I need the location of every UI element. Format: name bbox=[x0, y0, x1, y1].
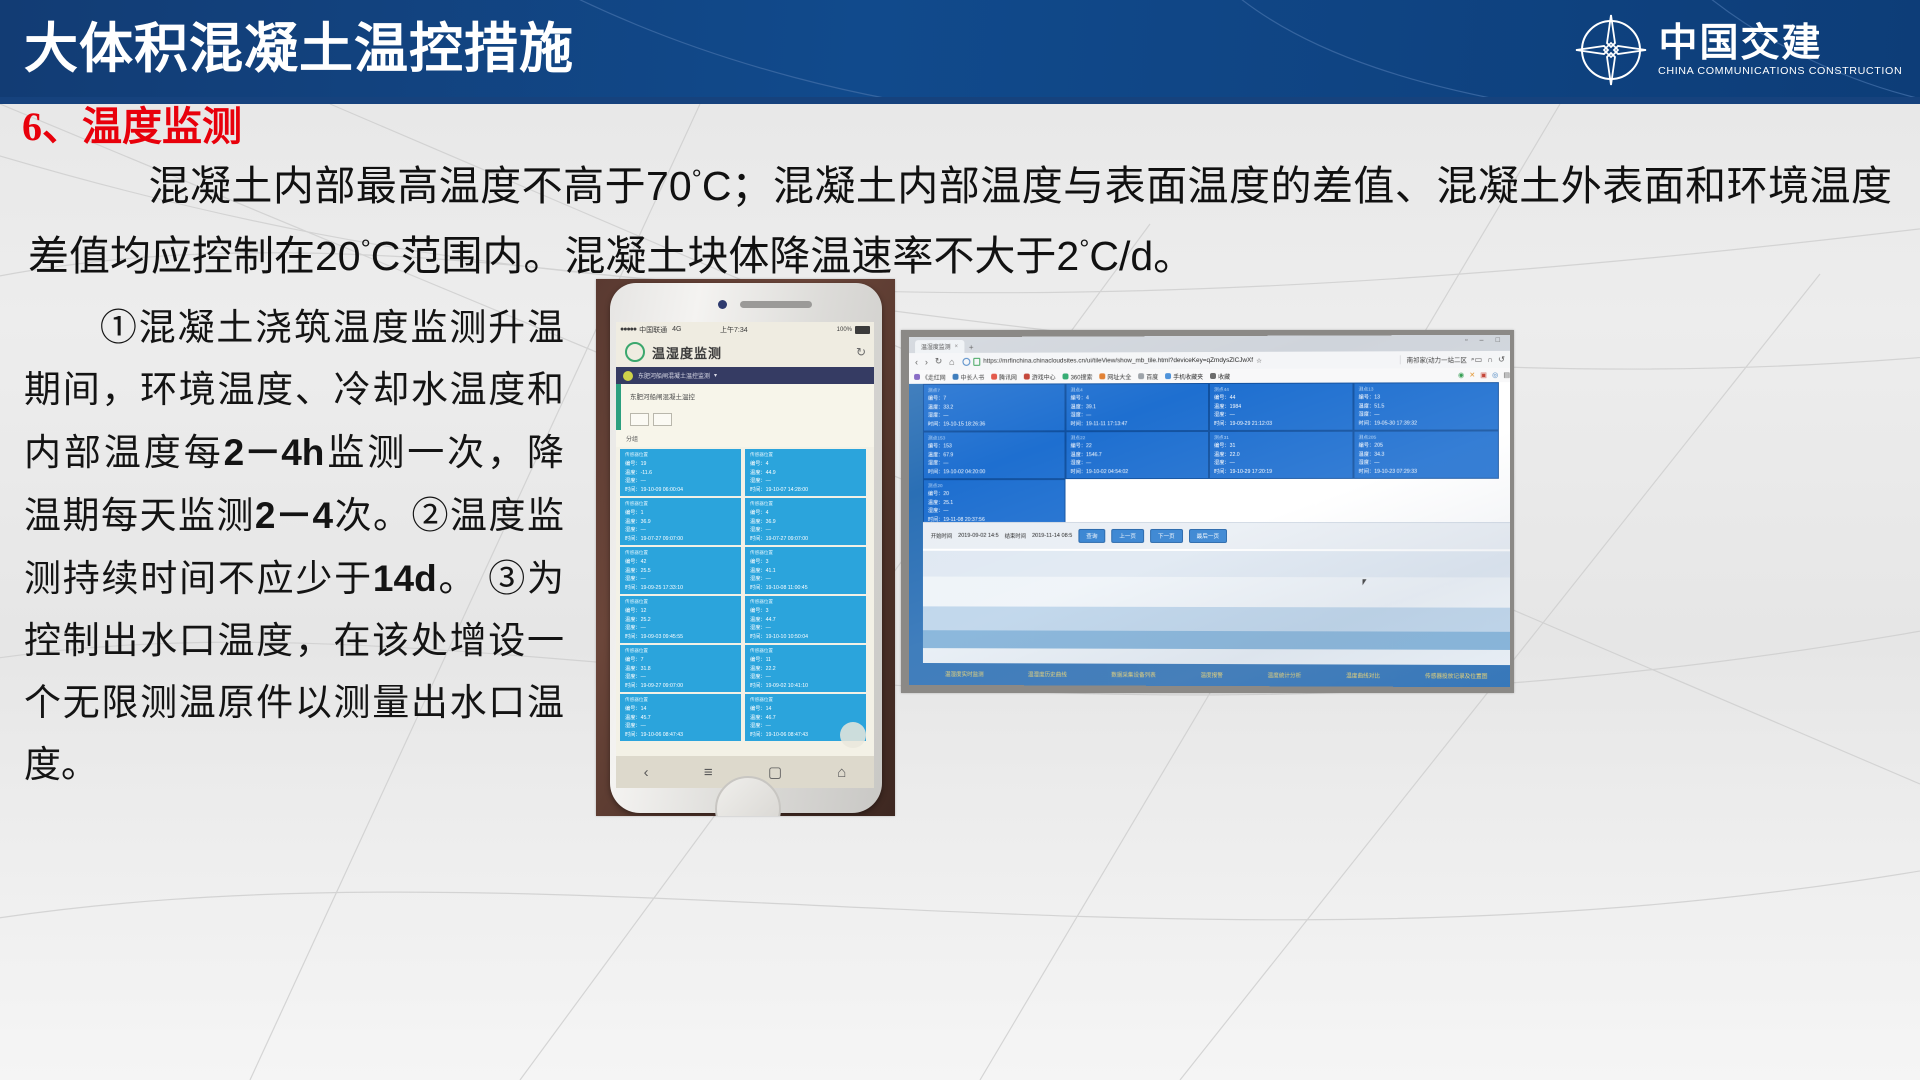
phone-breadcrumb-row: 东肥河船闸混凝土温控 bbox=[616, 384, 874, 408]
bookmark-favicon-icon bbox=[1024, 374, 1030, 380]
sensor-card-title: 传感器位置 bbox=[750, 452, 861, 458]
sensor-card-temperature: 温度：36.9 bbox=[625, 518, 736, 527]
measurement-card-id: 编号：153 bbox=[928, 442, 1061, 451]
intro-line2-c: C/d。 bbox=[1089, 233, 1194, 279]
chevron-down-icon[interactable]: ▾ bbox=[714, 372, 717, 379]
end-time-input[interactable]: 2019-11-14 08:5 bbox=[1032, 533, 1072, 539]
footer-tab[interactable]: 传感器投放记录及位置图 bbox=[1425, 672, 1487, 680]
sensor-card-id: 编号：14 bbox=[750, 705, 861, 714]
measurement-card-humidity: 湿度：— bbox=[928, 411, 1061, 420]
slide-header: 大体积混凝土温控措施 中国交建 CHINA COMMUNICATIONS CON… bbox=[0, 0, 1920, 104]
measurement-card-temperature: 温度：51.5 bbox=[1358, 402, 1493, 411]
footer-tab[interactable]: 数据采集设备列表 bbox=[1111, 671, 1156, 679]
bookmark-item[interactable]: 中长人书 bbox=[953, 372, 985, 381]
sensor-card-time: 时间：19-07-27 09:07:00 bbox=[625, 535, 736, 544]
sensor-card-humidity: 湿度：— bbox=[625, 624, 736, 633]
sensor-card-title: 传感器位置 bbox=[625, 697, 736, 703]
start-time-label: 开始时间 bbox=[931, 532, 952, 540]
measurement-card-grid: 测点7编号：7温度：33.2湿度：—时间：19-10-15 18:26:36测点… bbox=[923, 382, 1510, 527]
company-logo: 中国交建 CHINA COMMUNICATIONS CONSTRUCTION bbox=[1574, 10, 1898, 90]
sensor-card-temperature: 温度：41.1 bbox=[750, 567, 861, 576]
measurement-card[interactable]: 测点31编号：31温度：22.0湿度：—时间：19-10-29 17:20:19 bbox=[1209, 431, 1353, 479]
sensor-card-title: 传感器位置 bbox=[750, 697, 861, 703]
sensor-card-humidity: 湿度：— bbox=[625, 722, 736, 731]
intro-paragraph: 混凝土内部最高温度不高于70°C；混凝土内部温度与表面温度的差值、混凝土外表面和… bbox=[28, 148, 1892, 288]
measurement-card-humidity: 湿度：— bbox=[1214, 459, 1348, 468]
bookmark-item[interactable]: 手机收藏夹 bbox=[1165, 372, 1203, 381]
app-title: 温湿度监测 bbox=[652, 343, 722, 362]
bookmark-item[interactable]: 网址大全 bbox=[1099, 372, 1131, 381]
nav-breadcrumb-label: 东肥河船闸混凝土温控监测 bbox=[638, 371, 710, 380]
sensor-card-title: 传感器位置 bbox=[625, 599, 736, 605]
sensor-card-humidity: 湿度：— bbox=[625, 526, 736, 535]
sensor-card-humidity: 湿度：— bbox=[625, 673, 736, 682]
sensor-card-temperature: 温度：44.9 bbox=[750, 469, 861, 478]
footer-tab[interactable]: 温湿度实时监测 bbox=[945, 670, 984, 678]
monitoring-web-page: 测点7编号：7温度：33.2湿度：—时间：19-10-15 18:26:36测点… bbox=[909, 382, 1510, 687]
body-bold-duration: 14d bbox=[373, 558, 437, 599]
cross-icon[interactable]: ✕ bbox=[1469, 371, 1475, 379]
status-bar-right: 100% bbox=[837, 326, 870, 334]
last-page-button[interactable]: 最后一页 bbox=[1189, 529, 1227, 543]
measurement-card-id: 编号：44 bbox=[1214, 394, 1348, 403]
sensor-card-id: 编号：4 bbox=[750, 460, 861, 469]
phone-group-row[interactable]: 分组 bbox=[616, 430, 874, 447]
tools-icon[interactable]: ▣ bbox=[1480, 371, 1487, 379]
phone-photo: ●●●●● 中国联通 4G 上午7:34 100% 温湿度监测 ↻ 东肥河船闸混… bbox=[596, 279, 895, 816]
measurement-card-id: 编号：31 bbox=[1214, 442, 1348, 451]
degree-symbol-2: ° bbox=[361, 235, 371, 263]
measurement-card-title: 测点4 bbox=[1070, 386, 1204, 393]
body-paragraph: ①混凝土浇筑温度监测升温期间，环境温度、冷却水温度和内部温度每2－4h监测一次，… bbox=[24, 298, 564, 797]
sensor-card-temperature: 温度：-11.6 bbox=[625, 469, 736, 478]
degree-symbol-3: ° bbox=[1079, 235, 1089, 263]
measurement-card-humidity: 湿度：— bbox=[1358, 410, 1493, 419]
next-page-button[interactable]: 下一页 bbox=[1150, 529, 1183, 543]
measurement-card[interactable]: 测点20编号：20温度：25.1湿度：—时间：19-11-08 20:37:56 bbox=[923, 479, 1066, 527]
section-heading: 6、温度监测 bbox=[22, 100, 242, 154]
sensor-card-time: 时间：19-09-25 17:33:10 bbox=[625, 584, 736, 593]
sensor-card-time: 时间：19-09-02 10:41:10 bbox=[750, 682, 861, 691]
network-type-label: 4G bbox=[672, 326, 681, 333]
body-bold-interval: 2－4h bbox=[224, 432, 325, 473]
measurement-card-time: 时间：19-10-02 04:20:00 bbox=[928, 468, 1061, 477]
measurement-card-temperature: 温度：1546.7 bbox=[1070, 451, 1204, 460]
bookmark-label: 百度 bbox=[1146, 372, 1158, 381]
sensor-card-title: 传感器位置 bbox=[750, 501, 861, 507]
logo-text-block: 中国交建 CHINA COMMUNICATIONS CONSTRUCTION bbox=[1658, 23, 1898, 78]
more-icon[interactable]: ▤ bbox=[1503, 371, 1510, 379]
bookmark-item[interactable]: 腾讯网 bbox=[991, 372, 1017, 381]
browser-nav-buttons: ‹ › ↻ ⌂ bbox=[915, 356, 954, 367]
sensor-card-id: 编号：42 bbox=[625, 558, 736, 567]
bookmark-label: 《走红网 bbox=[922, 372, 946, 381]
phone-front-camera bbox=[718, 300, 727, 309]
nav-back-icon[interactable]: ‹ bbox=[644, 764, 649, 781]
measurement-card[interactable]: 测点44编号：44温度：1984湿度：—时间：19-09-29 21:12:03 bbox=[1209, 383, 1353, 431]
sensor-card-temperature: 温度：45.7 bbox=[625, 714, 736, 723]
status-bar-time: 上午7:34 bbox=[720, 325, 748, 335]
bookmark-favicon-icon bbox=[1210, 373, 1216, 379]
nav-home-icon[interactable]: ⌂ bbox=[837, 764, 846, 781]
bookmark-label: 收藏 bbox=[1218, 371, 1230, 380]
search-text: 南祁家(动力一站二区 bbox=[1407, 355, 1467, 364]
body-bold-count: 2－4 bbox=[255, 495, 333, 536]
window-controls[interactable]: ▫ – □ bbox=[1465, 337, 1505, 344]
measurement-card-title: 测点13 bbox=[1358, 385, 1493, 392]
measurement-card-title: 测点7 bbox=[928, 386, 1061, 393]
measurement-card-title: 测点205 bbox=[1358, 433, 1493, 440]
measurement-card-title: 测点153 bbox=[928, 434, 1061, 441]
intro-line2-b: C范围内。混凝土块体降温速率不大于2 bbox=[371, 233, 1079, 279]
sensor-card-temperature: 温度：25.2 bbox=[625, 616, 736, 625]
query-button[interactable]: 查询 bbox=[1078, 529, 1105, 543]
measurement-card-temperature: 温度：67.9 bbox=[928, 451, 1061, 460]
sensor-card-title: 传感器位置 bbox=[625, 501, 736, 507]
reload-icon[interactable]: ↻ bbox=[935, 356, 942, 367]
sensor-card-time: 时间：19-10-08 11:00:45 bbox=[750, 584, 861, 593]
measurement-card[interactable]: 测点4编号：4温度：39.1湿度：—时间：19-11-11 17:13:47 bbox=[1066, 383, 1209, 431]
bookmark-favicon-icon bbox=[1063, 373, 1069, 379]
sensor-card-id: 编号：1 bbox=[625, 509, 736, 518]
toolbar-button-2[interactable] bbox=[653, 413, 672, 426]
measurement-card-id: 编号：20 bbox=[928, 490, 1061, 499]
page-stripe-1 bbox=[923, 551, 1510, 578]
phone-app-bar: 温湿度监测 ↻ bbox=[616, 337, 874, 367]
measurement-card-temperature: 温度：33.2 bbox=[928, 403, 1061, 412]
measurement-card-id: 编号：7 bbox=[928, 394, 1061, 403]
sensor-card-time: 时间：19-09-27 09:07:00 bbox=[625, 682, 736, 691]
sensor-card-id: 编号：12 bbox=[625, 607, 736, 616]
signal-strength-icon: ●●●●● bbox=[620, 326, 636, 333]
measurement-card[interactable]: 测点22编号：22温度：1546.7湿度：—时间：19-10-02 04:54:… bbox=[1066, 431, 1209, 479]
shield-icon[interactable]: ◉ bbox=[1458, 371, 1464, 379]
sensor-card-id: 编号：3 bbox=[750, 558, 861, 567]
monitor-screen: 温湿度监测 × + ▫ – □ ‹ › ↻ ⌂ https://mrfinchi… bbox=[909, 335, 1510, 687]
browser-extension-icons: ◉ ✕ ▣ ◎ ▤ bbox=[1458, 371, 1510, 379]
sensor-card-title: 传感器位置 bbox=[625, 648, 736, 654]
sensor-card-time: 时间：19-09-03 09:45:55 bbox=[625, 633, 736, 642]
sensor-card-humidity: 湿度：— bbox=[750, 526, 861, 535]
sensor-card[interactable]: 传感器位置编号：3温度：41.1湿度：—时间：19-10-08 11:00:45 bbox=[745, 547, 866, 594]
measurement-card-row: 测点20编号：20温度：25.1湿度：—时间：19-11-08 20:37:56 bbox=[923, 479, 1510, 527]
floating-action-button[interactable] bbox=[840, 722, 866, 748]
measurement-card[interactable]: 测点7编号：7温度：33.2湿度：—时间：19-10-15 18:26:36 bbox=[923, 383, 1066, 431]
bookmark-favicon-icon bbox=[1138, 373, 1144, 379]
header-underline bbox=[0, 97, 1920, 104]
sensor-card-time: 时间：19-10-07 14:28:00 bbox=[750, 486, 861, 495]
phone-sensor-card-grid: 传感器位置编号：19温度：-11.6湿度：—时间：19-10-09 06:00:… bbox=[616, 447, 874, 756]
sensor-card[interactable]: 传感器位置编号：11温度：22.2湿度：—时间：19-09-02 10:41:1… bbox=[745, 645, 866, 692]
bookmark-favicon-icon bbox=[914, 374, 920, 380]
page-left-sidebar bbox=[909, 384, 923, 685]
nav-recents-icon[interactable]: ▢ bbox=[768, 763, 782, 781]
measurement-card-time: 时间：19-10-29 17:20:19 bbox=[1214, 467, 1348, 476]
globe-icon bbox=[962, 357, 970, 365]
app-logo-icon bbox=[625, 342, 645, 362]
page-stripe-4 bbox=[923, 630, 1510, 650]
bookmark-item[interactable]: 游戏中心 bbox=[1024, 372, 1056, 381]
measurement-card-time: 时间：19-05-30 17:39:32 bbox=[1358, 419, 1493, 428]
measurement-card[interactable]: 测点13编号：13温度：51.5湿度：—时间：19-05-30 17:39:32 bbox=[1353, 382, 1498, 431]
bookmark-star-icon[interactable]: ☆ bbox=[1256, 356, 1262, 364]
page-title: 大体积混凝土温控措施 bbox=[24, 16, 574, 82]
prev-page-button[interactable]: 上一页 bbox=[1111, 529, 1144, 543]
sensor-card-title: 传感器位置 bbox=[750, 648, 861, 654]
measurement-card-title: 测点44 bbox=[1214, 386, 1348, 393]
measurement-card-id: 编号：4 bbox=[1070, 394, 1204, 403]
toolbar-button-1[interactable] bbox=[630, 413, 649, 426]
intro-line1-a: 混凝土内部最高温度不高于70 bbox=[148, 163, 692, 209]
phone-status-bar: ●●●●● 中国联通 4G 上午7:34 100% bbox=[616, 322, 874, 337]
measurement-card-humidity: 湿度：— bbox=[928, 459, 1061, 468]
sensor-card[interactable]: 传感器位置编号：42温度：25.5湿度：—时间：19-09-25 17:33:1… bbox=[620, 547, 741, 594]
logo-chinese-name: 中国交建 bbox=[1658, 23, 1898, 65]
measurement-card[interactable]: 测点153编号：153温度：67.9湿度：—时间：19-10-02 04:20:… bbox=[923, 431, 1066, 479]
phone-nav-bar[interactable]: 东肥河船闸混凝土温控监测 ▾ bbox=[616, 367, 874, 384]
bookmark-item[interactable]: 收藏 bbox=[1210, 371, 1230, 380]
bookmark-label: 腾讯网 bbox=[999, 372, 1017, 381]
compass-emblem-icon bbox=[1574, 13, 1648, 87]
group-label: 分组 bbox=[626, 434, 638, 443]
carrier-label: 中国联通 bbox=[639, 325, 667, 335]
page-stripe-2 bbox=[923, 577, 1510, 608]
measurement-card-time: 时间：19-09-29 21:12:03 bbox=[1214, 419, 1348, 428]
browser-tab-active[interactable]: 温湿度监测 × bbox=[915, 340, 964, 353]
sensor-card-id: 编号：14 bbox=[625, 705, 736, 714]
measurement-card-id: 编号：205 bbox=[1358, 442, 1493, 451]
bookmark-label: 中长人书 bbox=[960, 372, 984, 381]
sensor-card-temperature: 温度：36.9 bbox=[750, 518, 861, 527]
sensor-card[interactable]: 传感器位置编号：3温度：44.7湿度：—时间：19-10-10 10:50:04 bbox=[745, 596, 866, 643]
measurement-card-temperature: 温度：34.3 bbox=[1358, 450, 1493, 459]
measurement-card-title: 测点22 bbox=[1070, 434, 1204, 441]
measurement-card-temperature: 温度：39.1 bbox=[1070, 403, 1204, 412]
measurement-card-temperature: 温度：25.1 bbox=[928, 499, 1061, 507]
sensor-card[interactable]: 传感器位置编号：12温度：25.2湿度：—时间：19-09-03 09:45:5… bbox=[620, 596, 741, 643]
screenshot-icon[interactable]: ▭ bbox=[1475, 355, 1483, 364]
url-text: https://mrfinchina.chinacloudsites.cn/ui… bbox=[983, 357, 1253, 365]
account-icon[interactable]: ◎ bbox=[1492, 371, 1498, 379]
sensor-card-humidity: 湿度：— bbox=[750, 673, 861, 682]
refresh-icon[interactable]: ↻ bbox=[856, 345, 866, 359]
sensor-card[interactable]: 传感器位置编号：1温度：36.9湿度：—时间：19-07-27 09:07:00 bbox=[620, 498, 741, 545]
footer-tab[interactable]: 温度报警 bbox=[1200, 671, 1222, 679]
sensor-card-id: 编号：7 bbox=[625, 656, 736, 665]
bookmark-label: 网址大全 bbox=[1107, 372, 1131, 381]
sensor-card-temperature: 温度：22.2 bbox=[750, 665, 861, 674]
sensor-card[interactable]: 传感器位置编号：4温度：44.9湿度：—时间：19-10-07 14:28:00 bbox=[745, 449, 866, 496]
measurement-card-temperature: 温度：22.0 bbox=[1214, 450, 1348, 459]
measurement-card-id: 编号：22 bbox=[1070, 442, 1204, 451]
bookmark-label: 360搜索 bbox=[1071, 372, 1093, 381]
phone-earpiece bbox=[740, 301, 812, 308]
bookmark-item[interactable]: 《走红网 bbox=[914, 372, 946, 381]
measurement-card-humidity: 湿度：— bbox=[1358, 459, 1493, 468]
browser-tab-title: 温湿度监测 bbox=[921, 342, 951, 351]
intro-line1-b: C；混凝土内部温度与表面温度的差值、混凝土 bbox=[702, 163, 1561, 209]
phone-screen: ●●●●● 中国联通 4G 上午7:34 100% 温湿度监测 ↻ 东肥河船闸混… bbox=[616, 322, 874, 756]
sensor-card-humidity: 湿度：— bbox=[625, 477, 736, 486]
sensor-card-id: 编号：3 bbox=[750, 607, 861, 616]
sensor-card-time: 时间：19-10-09 06:00:04 bbox=[625, 486, 736, 495]
sensor-card-humidity: 湿度：— bbox=[625, 575, 736, 584]
bookmark-favicon-icon bbox=[953, 374, 959, 380]
sensor-card-temperature: 温度：46.7 bbox=[750, 714, 861, 723]
measurement-card-time: 时间：19-10-23 07:29:33 bbox=[1358, 467, 1493, 476]
nav-menu-icon[interactable]: ≡ bbox=[704, 764, 713, 781]
home-icon[interactable]: ⌂ bbox=[949, 356, 954, 366]
page-stripe-3 bbox=[923, 606, 1510, 631]
sensor-card-id: 编号：19 bbox=[625, 460, 736, 469]
battery-percent-label: 100% bbox=[837, 327, 852, 333]
measurement-card-humidity: 湿度：— bbox=[1214, 411, 1348, 420]
measurement-card-title: 测点31 bbox=[1214, 434, 1348, 441]
history-icon[interactable]: ↺ bbox=[1498, 355, 1505, 364]
sensor-card-title: 传感器位置 bbox=[625, 550, 736, 556]
nav-status-dot-icon bbox=[623, 371, 633, 381]
footer-tab[interactable]: 温湿度历史曲线 bbox=[1028, 670, 1067, 678]
measurement-card-humidity: 湿度：— bbox=[1070, 459, 1204, 468]
measurement-card-humidity: 湿度：— bbox=[1070, 411, 1204, 420]
measurement-card-time: 时间：19-10-15 18:26:36 bbox=[928, 420, 1061, 429]
bookmark-favicon-icon bbox=[1165, 373, 1171, 379]
measurement-card-row: 测点153编号：153温度：67.9湿度：—时间：19-10-02 04:20:… bbox=[923, 430, 1510, 479]
query-controls-bar: 开始时间 2019-09-02 14:5 结束时间 2019-11-14 08:… bbox=[923, 522, 1510, 549]
bookmark-label: 游戏中心 bbox=[1032, 372, 1056, 381]
sensor-card-title: 传感器位置 bbox=[750, 599, 861, 605]
back-icon[interactable]: ‹ bbox=[915, 357, 918, 367]
footer-tab[interactable]: 温度曲线对比 bbox=[1346, 672, 1380, 680]
monitor-photo: 温湿度监测 × + ▫ – □ ‹ › ↻ ⌂ https://mrfinchi… bbox=[901, 330, 1514, 693]
sensor-card[interactable]: 传感器位置编号：7温度：31.8湿度：—时间：19-09-27 09:07:00 bbox=[620, 645, 741, 692]
sensor-card[interactable]: 传感器位置编号：19温度：-11.6湿度：—时间：19-10-09 06:00:… bbox=[620, 449, 741, 496]
measurement-card-temperature: 温度：1984 bbox=[1214, 402, 1348, 411]
lock-icon bbox=[973, 357, 980, 365]
sensor-card-temperature: 温度：31.8 bbox=[625, 665, 736, 674]
sensor-card-temperature: 温度：25.5 bbox=[625, 567, 736, 576]
bookmark-label: 手机收藏夹 bbox=[1173, 372, 1203, 381]
sensor-card-time: 时间：19-10-10 10:50:04 bbox=[750, 633, 861, 642]
browser-toolbar-icons: ▭ ∩ ↺ bbox=[1475, 355, 1505, 364]
measurement-card-time: 时间：19-11-11 17:13:47 bbox=[1070, 420, 1204, 429]
measurement-card-row: 测点7编号：7温度：33.2湿度：—时间：19-10-15 18:26:36测点… bbox=[923, 382, 1510, 431]
bookmark-favicon-icon bbox=[991, 374, 997, 380]
measurement-card-id: 编号：13 bbox=[1358, 393, 1493, 402]
slide-root: 大体积混凝土温控措施 中国交建 CHINA COMMUNICATIONS CON… bbox=[0, 0, 1920, 1080]
sensor-card-title: 传感器位置 bbox=[750, 550, 861, 556]
measurement-card-time: 时间：19-10-02 04:54:02 bbox=[1070, 468, 1204, 477]
page-footer-tabs: 温湿度实时监测温湿度历史曲线数据采集设备列表温度报警温度统计分析温度曲线对比传感… bbox=[923, 663, 1510, 687]
new-tab-button[interactable]: + bbox=[969, 343, 974, 353]
sensor-card-id: 编号：11 bbox=[750, 656, 861, 665]
browser-search-box[interactable]: 南祁家(动力一站二区 ⌕ bbox=[1400, 355, 1475, 364]
sensor-card-humidity: 湿度：— bbox=[750, 575, 861, 584]
url-field[interactable]: https://mrfinchina.chinacloudsites.cn/ui… bbox=[962, 356, 1393, 366]
logo-english-name: CHINA COMMUNICATIONS CONSTRUCTION bbox=[1658, 65, 1902, 78]
measurement-card-humidity: 湿度：— bbox=[928, 507, 1061, 515]
sensor-card-id: 编号：4 bbox=[750, 509, 861, 518]
sensor-card-title: 传感器位置 bbox=[625, 452, 736, 458]
sensor-card-time: 时间：19-10-06 08:47:43 bbox=[625, 731, 736, 740]
sensor-card-humidity: 湿度：— bbox=[750, 477, 861, 486]
sensor-card-humidity: 湿度：— bbox=[750, 624, 861, 633]
sensor-card-temperature: 温度：44.7 bbox=[750, 616, 861, 625]
bookmark-item[interactable]: 百度 bbox=[1138, 372, 1158, 381]
sensor-card[interactable]: 传感器位置编号：14温度：45.7湿度：—时间：19-10-06 08:47:4… bbox=[620, 694, 741, 741]
sensor-card[interactable]: 传感器位置编号：4温度：36.9湿度：—时间：19-07-27 09:07:00 bbox=[745, 498, 866, 545]
headphone-icon[interactable]: ∩ bbox=[1487, 355, 1493, 364]
bookmark-favicon-icon bbox=[1099, 373, 1105, 379]
measurement-card[interactable]: 测点205编号：205温度：34.3湿度：—时间：19-10-23 07:29:… bbox=[1353, 430, 1498, 478]
mouse-cursor-icon bbox=[1363, 579, 1370, 585]
degree-symbol-1: ° bbox=[692, 165, 702, 193]
close-icon[interactable]: × bbox=[955, 343, 958, 349]
bookmark-item[interactable]: 360搜索 bbox=[1063, 372, 1093, 381]
battery-icon bbox=[855, 326, 870, 334]
footer-tab[interactable]: 温度统计分析 bbox=[1268, 671, 1302, 679]
sensor-card-time: 时间：19-07-27 09:07:00 bbox=[750, 535, 861, 544]
page-breadcrumb-label: 东肥河船闸混凝土温控 bbox=[630, 391, 695, 401]
phone-toolbar bbox=[616, 408, 874, 430]
forward-icon[interactable]: › bbox=[925, 357, 928, 367]
measurement-card-title: 测点20 bbox=[928, 482, 1061, 489]
end-time-label: 结束时间 bbox=[1005, 532, 1026, 540]
start-time-input[interactable]: 2019-09-02 14:5 bbox=[958, 533, 999, 539]
